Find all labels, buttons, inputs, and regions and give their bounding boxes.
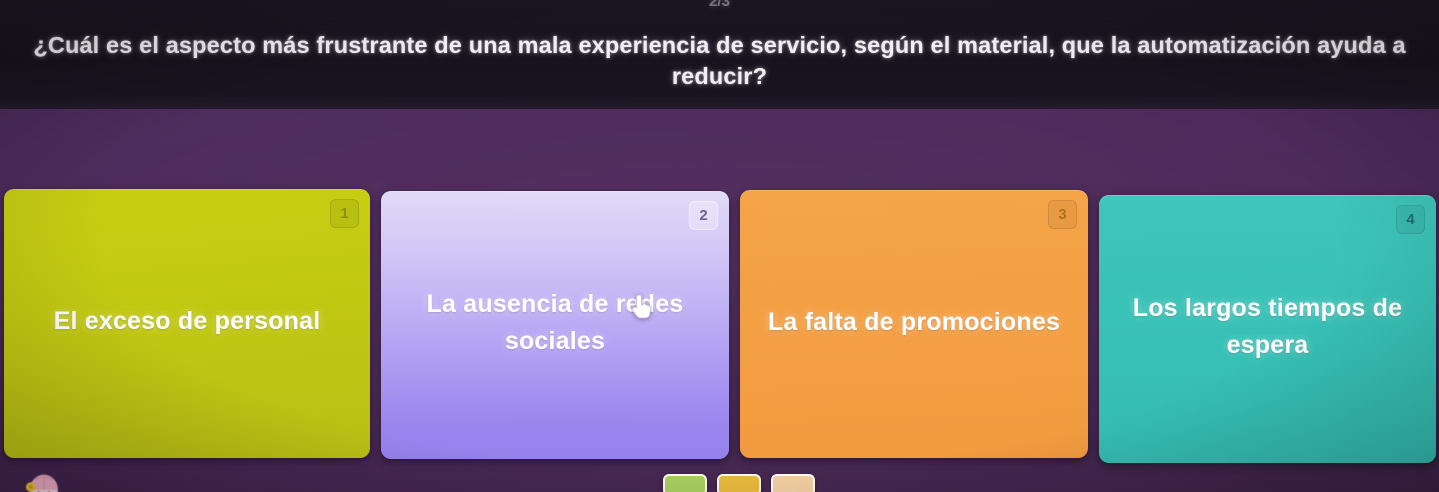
answer-label-2: La ausencia de redes sociales (403, 286, 706, 360)
chip-1[interactable] (663, 474, 707, 492)
chip-2[interactable] (717, 474, 761, 492)
answer-label-1: El exceso de personal (54, 303, 321, 340)
answer-label-4: Los largos tiempos de espera (1121, 290, 1414, 364)
answer-number-badge-2: 2 (689, 201, 718, 230)
chip-3[interactable] (771, 474, 815, 492)
answer-option-3[interactable]: 3 La falta de promociones (740, 190, 1088, 458)
answer-option-2[interactable]: 2 La ausencia de redes sociales (381, 191, 729, 459)
answer-options-row: 1 El exceso de personal 2 La ausencia de… (0, 186, 1439, 466)
answer-number-badge-3: 3 (1048, 200, 1077, 229)
question-progress-counter: 2/3 (0, 0, 1439, 10)
answer-number-badge-1: 1 (330, 199, 359, 228)
player-avatar-icon (22, 466, 64, 492)
bottom-chip-row (663, 474, 815, 492)
answer-option-1[interactable]: 1 El exceso de personal (4, 189, 370, 458)
answer-option-4[interactable]: 4 Los largos tiempos de espera (1099, 195, 1436, 463)
answer-number-badge-4: 4 (1396, 205, 1425, 234)
question-text: ¿Cuál es el aspecto más frustrante de un… (26, 30, 1413, 92)
answer-label-3: La falta de promociones (768, 304, 1060, 341)
question-banner: ¿Cuál es el aspecto más frustrante de un… (0, 0, 1439, 109)
quiz-screen: 2/3 ¿Cuál es el aspecto más frustrante d… (0, 0, 1439, 492)
